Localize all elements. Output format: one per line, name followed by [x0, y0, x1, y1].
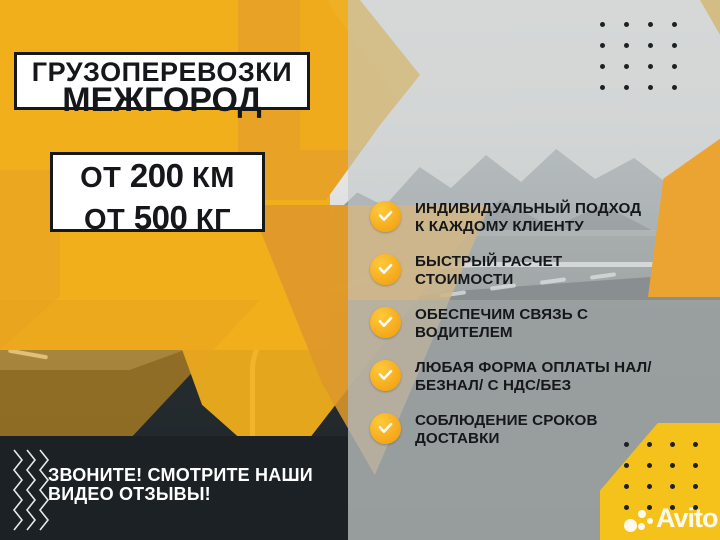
benefit-text: ЛЮБАЯ ФОРМА ОПЛАТЫ НАЛ/ БЕЗНАЛ/ С НДС/БЕ… — [415, 355, 652, 395]
spec-distance-row: ОТ 200 КМ — [53, 157, 262, 197]
cta-line1: ЗВОНИТЕ! СМОТРИТЕ НАШИ — [48, 466, 328, 485]
service-specs-box: ОТ 200 КМ ОТ 500 КГ — [50, 152, 265, 232]
benefit-line2: К КАЖДОМУ КЛИЕНТУ — [415, 218, 584, 235]
list-item: ОБЕСПЕЧИМ СВЯЗЬ С ВОДИТЕЛЕМ — [370, 302, 710, 342]
spec-weight-value: 500 — [134, 199, 188, 236]
check-circle-icon — [370, 413, 401, 444]
list-item: БЫСТРЫЙ РАСЧЕТ СТОИМОСТИ — [370, 249, 710, 289]
spec-distance-value: 200 — [130, 157, 184, 194]
benefit-line1: БЫСТРЫЙ РАСЧЕТ — [415, 253, 562, 270]
benefit-line2: ДОСТАВКИ — [415, 430, 499, 447]
spec-weight-suffix: КГ — [187, 204, 231, 236]
avito-wordmark: Avito — [656, 503, 718, 533]
spec-weight-prefix: ОТ — [84, 204, 134, 236]
list-item: СОБЛЮДЕНИЕ СРОКОВ ДОСТАВКИ — [370, 408, 710, 448]
dot-grid-top-right — [600, 22, 678, 100]
spec-weight-row: ОТ 500 КГ — [53, 199, 262, 239]
benefit-text: СОБЛЮДЕНИЕ СРОКОВ ДОСТАВКИ — [415, 408, 598, 448]
advertisement-banner: ГРУЗОПЕРЕВОЗКИ МЕЖГОРОД ОТ 200 КМ ОТ 500… — [0, 0, 720, 540]
service-title-box: ГРУЗОПЕРЕВОЗКИ МЕЖГОРОД — [14, 52, 310, 110]
call-to-action-text: ЗВОНИТЕ! СМОТРИТЕ НАШИ ВИДЕО ОТЗЫВЫ! — [48, 466, 328, 504]
benefit-line1: ОБЕСПЕЧИМ СВЯЗЬ С — [415, 306, 588, 323]
check-circle-icon — [370, 307, 401, 338]
benefit-line2: БЕЗНАЛ/ С НДС/БЕЗ — [415, 377, 571, 394]
benefit-line2: СТОИМОСТИ — [415, 271, 513, 288]
benefits-list: ИНДИВИДУАЛЬНЫЙ ПОДХОД К КАЖДОМУ КЛИЕНТУ … — [370, 196, 710, 461]
benefit-text: ОБЕСПЕЧИМ СВЯЗЬ С ВОДИТЕЛЕМ — [415, 302, 588, 342]
cta-line2: ВИДЕО ОТЗЫВЫ! — [48, 485, 328, 504]
benefit-line1: СОБЛЮДЕНИЕ СРОКОВ — [415, 412, 598, 429]
zigzag-decoration-icon — [10, 448, 52, 532]
check-circle-icon — [370, 360, 401, 391]
benefit-line2: ВОДИТЕЛЕМ — [415, 324, 513, 341]
list-item: ИНДИВИДУАЛЬНЫЙ ПОДХОД К КАЖДОМУ КЛИЕНТУ — [370, 196, 710, 236]
service-title-line2: МЕЖГОРОД — [17, 85, 307, 115]
benefit-text: ИНДИВИДУАЛЬНЫЙ ПОДХОД К КАЖДОМУ КЛИЕНТУ — [415, 196, 641, 236]
benefit-text: БЫСТРЫЙ РАСЧЕТ СТОИМОСТИ — [415, 249, 562, 289]
check-circle-icon — [370, 254, 401, 285]
list-item: ЛЮБАЯ ФОРМА ОПЛАТЫ НАЛ/ БЕЗНАЛ/ С НДС/БЕ… — [370, 355, 710, 395]
avito-logo-icon: Avito — [622, 505, 714, 535]
spec-distance-suffix: КМ — [183, 162, 234, 194]
benefit-line1: ИНДИВИДУАЛЬНЫЙ ПОДХОД — [415, 200, 641, 217]
check-circle-icon — [370, 201, 401, 232]
benefit-line1: ЛЮБАЯ ФОРМА ОПЛАТЫ НАЛ/ — [415, 359, 652, 376]
spec-distance-prefix: ОТ — [80, 162, 130, 194]
